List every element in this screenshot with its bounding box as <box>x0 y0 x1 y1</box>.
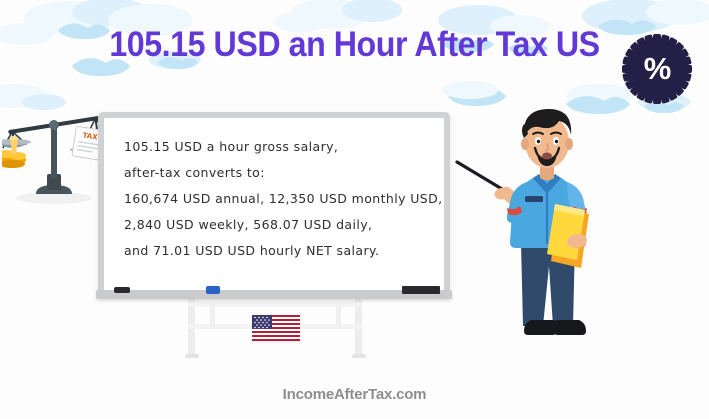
black-marker-icon <box>114 287 130 293</box>
whiteboard: 105.15 USD a hour gross salary, after-ta… <box>98 112 450 296</box>
teacher-illustration <box>455 96 635 346</box>
percent-symbol: % <box>620 32 694 106</box>
board-line-5: and 71.01 USD USD hourly NET salary. <box>124 238 432 264</box>
tax-balance-scale-icon: TAX <box>2 108 110 208</box>
board-line-1: 105.15 USD a hour gross salary, <box>124 134 432 160</box>
board-line-3: 160,674 USD annual, 12,350 USD monthly U… <box>124 186 432 212</box>
whiteboard-text: 105.15 USD a hour gross salary, after-ta… <box>124 134 432 264</box>
site-name: IncomeAfterTax.com <box>283 386 427 403</box>
page-title: 105.15 USD an Hour After Tax US <box>109 22 599 68</box>
board-line-2: after-tax converts to: <box>124 160 432 186</box>
black-eraser-icon <box>402 286 440 294</box>
infographic-canvas: 105.15 USD an Hour After Tax US <box>0 0 709 419</box>
whiteboard-tray <box>96 290 452 299</box>
us-flag-icon <box>252 315 300 341</box>
board-line-4: 2,840 USD weekly, 568.07 USD daily, <box>124 212 432 238</box>
title-bar: 105.15 USD an Hour After Tax US <box>0 22 709 70</box>
percent-badge: % <box>620 32 694 106</box>
footer: IncomeAfterTax.com <box>0 386 709 404</box>
blue-marker-icon <box>206 286 220 294</box>
